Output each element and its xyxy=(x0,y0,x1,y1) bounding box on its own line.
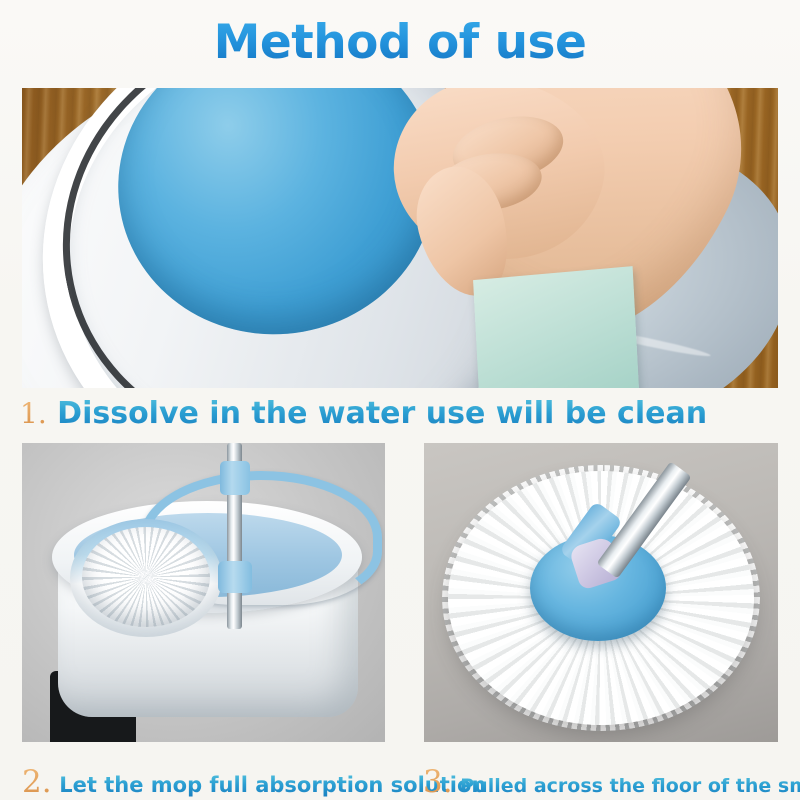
step-3-number: 3. xyxy=(423,764,453,800)
step-3-caption: 3. Pulled across the floor of the smooth… xyxy=(423,764,800,800)
page-title: Method of use xyxy=(0,18,800,67)
scene-mop-bucket xyxy=(22,443,385,742)
step-1-photo xyxy=(22,88,778,388)
step-3-photo xyxy=(424,443,778,742)
step-2-photo xyxy=(22,443,385,742)
step-1-number: 1. xyxy=(20,397,47,430)
step-1-text: Dissolve in the water use will be clean xyxy=(57,396,707,431)
scene-bucket-water xyxy=(22,88,778,388)
step-1-caption: 1. Dissolve in the water use will be cle… xyxy=(20,396,707,431)
step-2-caption: 2. Let the mop full absorption solution xyxy=(22,764,486,800)
scene-mop-head xyxy=(424,443,778,742)
step-3-text: Pulled across the floor of the smooth as… xyxy=(460,775,800,797)
cleaning-sheet xyxy=(473,266,641,388)
step-2-number: 2. xyxy=(22,764,52,800)
infographic-page: Method of use xyxy=(0,0,800,800)
spinner-basket xyxy=(82,527,210,627)
pole-collar xyxy=(220,461,250,495)
pole-collar xyxy=(218,561,252,593)
